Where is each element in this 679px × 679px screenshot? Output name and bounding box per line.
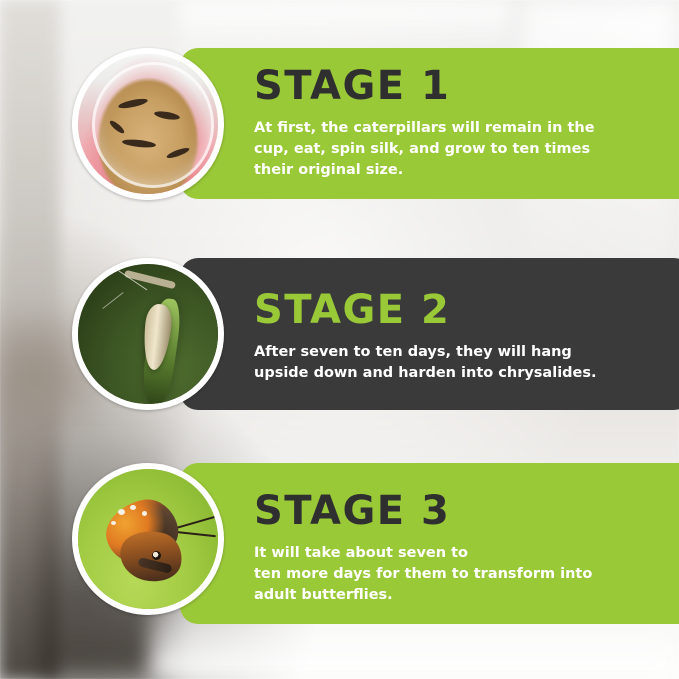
wing-spot: [111, 521, 116, 525]
stage-row-3: STAGE 3 It will take about seven to ten …: [72, 463, 634, 615]
photo-art-1: [78, 54, 218, 194]
stage-panel-2: STAGE 2 After seven to ten days, they wi…: [180, 258, 679, 410]
stage-row-1: STAGE 1 At first, the caterpillars will …: [72, 48, 634, 200]
wing-spot: [142, 511, 147, 516]
caterpillars-in-cup-photo: [72, 48, 224, 200]
photo-art-2: [78, 264, 218, 404]
stage-panel-3: STAGE 3 It will take about seven to ten …: [180, 463, 679, 624]
painted-lady-butterfly-photo: [72, 463, 224, 615]
stage-panel-1: STAGE 1 At first, the caterpillars will …: [180, 48, 679, 199]
wing-spot: [118, 509, 125, 515]
antenna: [175, 515, 220, 529]
stage-title-1: STAGE 1: [254, 66, 679, 106]
stage-row-2: STAGE 2 After seven to ten days, they wi…: [72, 258, 634, 410]
antenna: [174, 531, 216, 537]
stage-body-3: It will take about seven to ten more day…: [254, 543, 679, 606]
stage-body-2: After seven to ten days, they will hang …: [254, 342, 666, 384]
butterfly-eye: [152, 551, 161, 560]
wing-spot: [130, 505, 136, 510]
stage-title-3: STAGE 3: [254, 491, 679, 531]
stage-title-2: STAGE 2: [254, 290, 666, 330]
stage-body-1: At first, the caterpillars will remain i…: [254, 118, 679, 181]
chrysalis-on-leaf-photo: [72, 258, 224, 410]
silk-thread: [102, 292, 123, 309]
photo-art-3: [78, 469, 218, 609]
